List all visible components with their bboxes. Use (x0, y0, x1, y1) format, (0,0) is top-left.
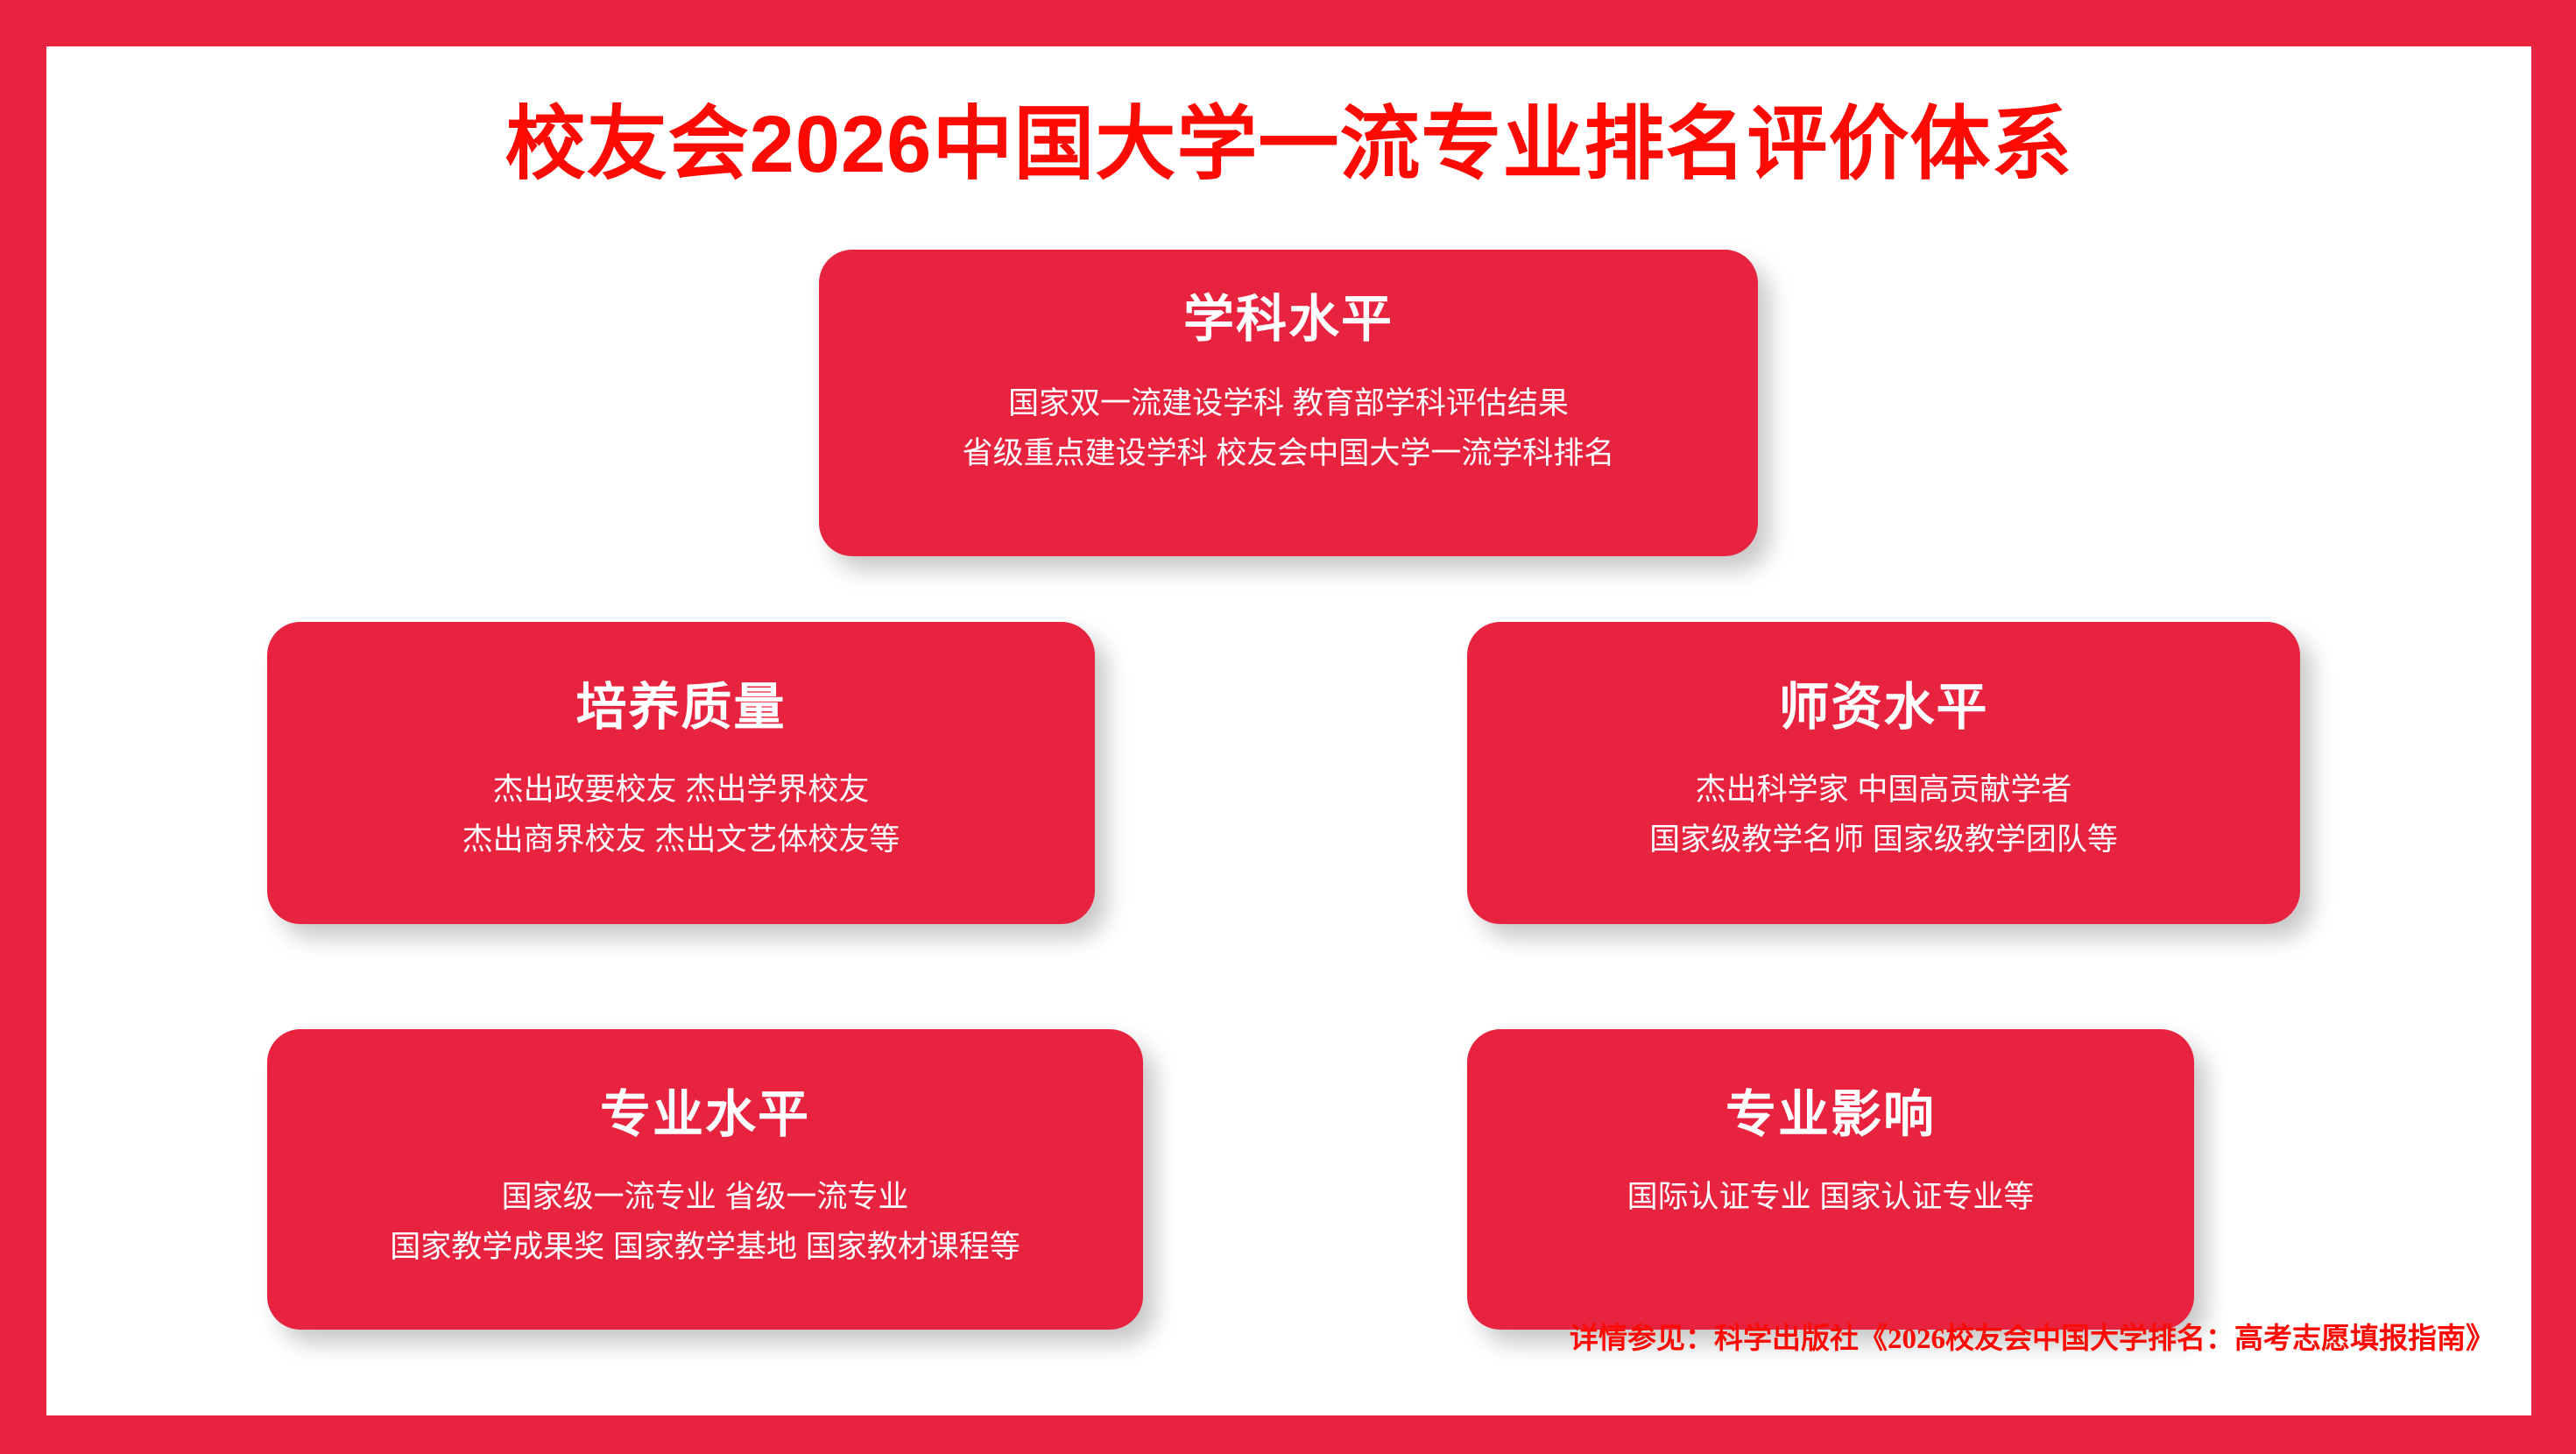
card-faculty-lines: 杰出科学家 中国高贡献学者 国家级教学名师 国家级教学团队等 (1649, 771, 2118, 860)
card-cultivation-line-1: 杰出政要校友 杰出学界校友 (493, 771, 870, 810)
card-major-impact-line-1: 国际认证专业 国家认证专业等 (1627, 1178, 2035, 1218)
poster-root: 校友会2026中国大学一流专业排名评价体系 学科水平 国家双一流建设学科 教育部… (0, 0, 2576, 1454)
card-major-level-line-1: 国家级一流专业 省级一流专业 (502, 1178, 909, 1218)
card-faculty[interactable]: 师资水平 杰出科学家 中国高贡献学者 国家级教学名师 国家级教学团队等 (1467, 622, 2300, 924)
card-discipline-lines: 国家双一流建设学科 教育部学科评估结果 省级重点建设学科 校友会中国大学一流学科… (963, 385, 1615, 474)
card-cultivation[interactable]: 培养质量 杰出政要校友 杰出学界校友 杰出商界校友 杰出文艺体校友等 (267, 622, 1095, 924)
card-discipline-line-1: 国家双一流建设学科 教育部学科评估结果 (1008, 385, 1569, 424)
card-major-level-title: 专业水平 (600, 1087, 810, 1143)
card-discipline-line-2: 省级重点建设学科 校友会中国大学一流学科排名 (963, 434, 1615, 474)
card-major-level[interactable]: 专业水平 国家级一流专业 省级一流专业 国家教学成果奖 国家教学基地 国家教材课… (267, 1029, 1143, 1330)
card-discipline[interactable]: 学科水平 国家双一流建设学科 教育部学科评估结果 省级重点建设学科 校友会中国大… (819, 250, 1758, 556)
card-cultivation-lines: 杰出政要校友 杰出学界校友 杰出商界校友 杰出文艺体校友等 (462, 771, 900, 860)
card-cultivation-title: 培养质量 (575, 680, 786, 736)
card-faculty-title: 师资水平 (1778, 680, 1988, 736)
card-faculty-line-1: 杰出科学家 中国高贡献学者 (1696, 771, 2072, 810)
card-cultivation-line-2: 杰出商界校友 杰出文艺体校友等 (462, 821, 900, 860)
card-discipline-title: 学科水平 (1183, 292, 1394, 348)
card-major-level-lines: 国家级一流专业 省级一流专业 国家教学成果奖 国家教学基地 国家教材课程等 (390, 1178, 1020, 1267)
card-major-level-line-2: 国家教学成果奖 国家教学基地 国家教材课程等 (390, 1228, 1020, 1267)
source-footnote: 详情参见：科学出版社《2026校友会中国大学排名：高考志愿填报指南》 (1570, 1323, 2495, 1358)
card-major-impact[interactable]: 专业影响 国际认证专业 国家认证专业等 (1467, 1029, 2194, 1330)
card-faculty-line-2: 国家级教学名师 国家级教学团队等 (1649, 821, 2118, 860)
card-major-impact-title: 专业影响 (1726, 1087, 1936, 1143)
poster-canvas: 校友会2026中国大学一流专业排名评价体系 学科水平 国家双一流建设学科 教育部… (46, 46, 2531, 1415)
card-major-impact-lines: 国际认证专业 国家认证专业等 (1627, 1178, 2035, 1218)
page-title: 校友会2026中国大学一流专业排名评价体系 (46, 101, 2531, 189)
